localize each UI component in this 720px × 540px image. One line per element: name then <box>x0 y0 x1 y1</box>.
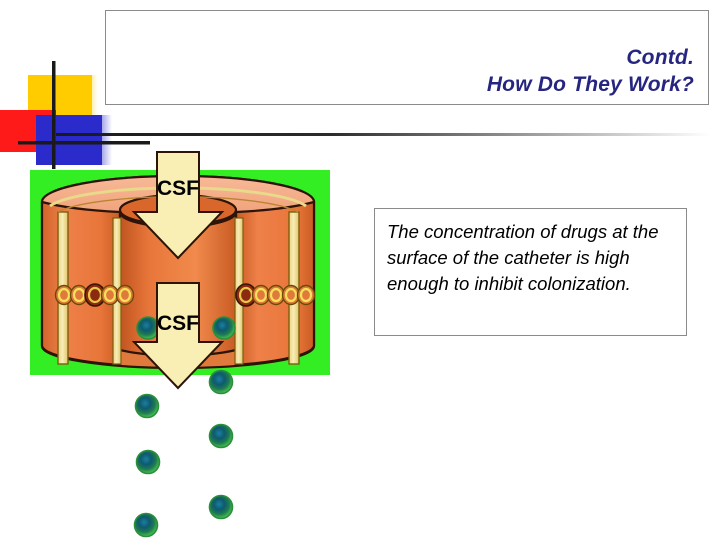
drug-particle <box>137 451 160 474</box>
catheter-csf-diagram: CSF CSF <box>28 150 368 540</box>
csf-label-bottom: CSF <box>157 312 199 335</box>
drug-particle-group <box>135 371 233 537</box>
red-square-fade <box>0 110 30 152</box>
slide-canvas: Contd. How Do They Work? <box>0 0 720 540</box>
explanation-text: The concentration of drugs at the surfac… <box>387 219 674 297</box>
yellow-square-fade <box>60 75 98 117</box>
title-box: Contd. How Do They Work? <box>105 10 709 105</box>
drug-particle <box>135 514 158 537</box>
page-title: Contd. How Do They Work? <box>487 44 694 98</box>
drug-particle-inside-right <box>213 317 235 339</box>
drug-particle <box>136 395 159 418</box>
pore-row-left <box>56 284 134 306</box>
drug-particle <box>210 496 233 519</box>
drug-particle <box>210 371 233 394</box>
pore-row-right <box>236 284 315 306</box>
catheter-wall-left <box>42 202 120 365</box>
drug-particle-inside-left <box>137 317 159 339</box>
drug-particle <box>210 425 233 448</box>
title-line-1: Contd. <box>487 44 694 71</box>
title-line-2: How Do They Work? <box>487 71 694 98</box>
crosshair-horizontal <box>18 141 150 145</box>
explanation-box: The concentration of drugs at the surfac… <box>374 208 687 336</box>
csf-label-top: CSF <box>157 177 199 200</box>
title-underline <box>56 133 710 136</box>
